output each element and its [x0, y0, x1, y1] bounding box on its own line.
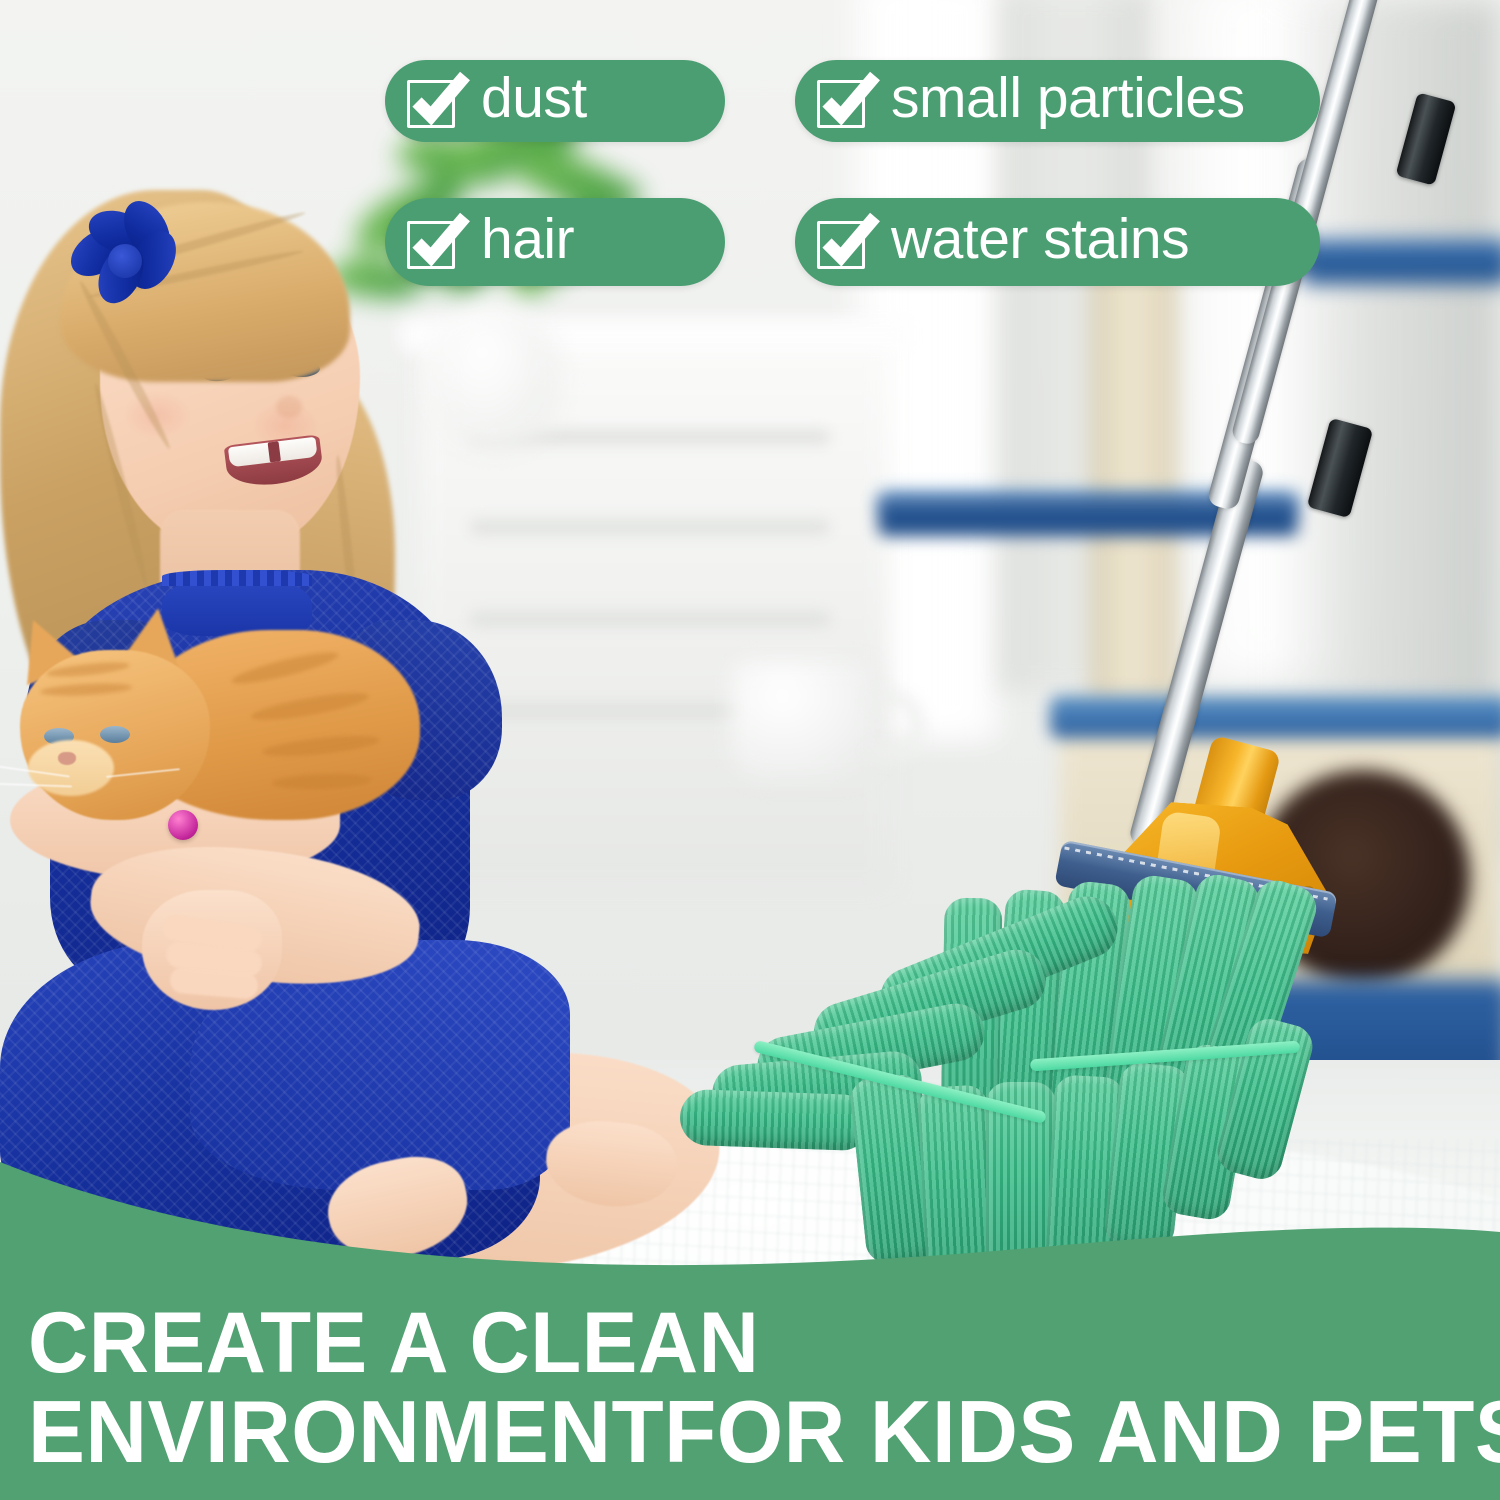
cat-eye: [100, 726, 130, 743]
cat-nose: [58, 752, 76, 765]
feature-badge-water-stains[interactable]: water stains: [795, 198, 1320, 286]
headline-line-1: CREATE A CLEAN: [28, 1299, 1435, 1388]
feature-badge-hair[interactable]: hair: [385, 198, 725, 286]
headline: CREATE A CLEAN ENVIRONMENTFOR KIDS AND P…: [28, 1299, 1435, 1478]
product-image-canvas: dustsmall particleshairwater stains CREA…: [0, 0, 1500, 1500]
checkbox-checked-icon: [817, 74, 871, 128]
nose: [276, 396, 302, 418]
feature-badge-label: water stains: [891, 211, 1189, 274]
checkbox-checked-icon: [407, 74, 461, 128]
checkbox-checked-icon: [407, 215, 461, 269]
feature-badge-label: hair: [481, 211, 574, 274]
hair-bow: [72, 218, 182, 308]
mop-pole-collar-upper: [1395, 92, 1456, 185]
headline-line-2: ENVIRONMENTFOR KIDS AND PETS: [28, 1387, 1435, 1478]
feature-badge-dust[interactable]: dust: [385, 60, 725, 142]
cat-collar-bell: [168, 810, 198, 840]
feature-badge-small-particles[interactable]: small particles: [795, 60, 1320, 142]
feature-badge-label: small particles: [891, 70, 1245, 133]
feature-badge-label: dust: [481, 70, 587, 133]
mop: [600, 0, 1500, 1310]
cat: [0, 620, 420, 920]
cat-muzzle: [28, 740, 114, 796]
dress-collar-ruffle: [162, 570, 312, 586]
mop-pole-collar-lower: [1307, 418, 1374, 518]
checkbox-checked-icon: [817, 215, 871, 269]
bottom-banner: CREATE A CLEAN ENVIRONMENTFOR KIDS AND P…: [0, 1140, 1500, 1500]
